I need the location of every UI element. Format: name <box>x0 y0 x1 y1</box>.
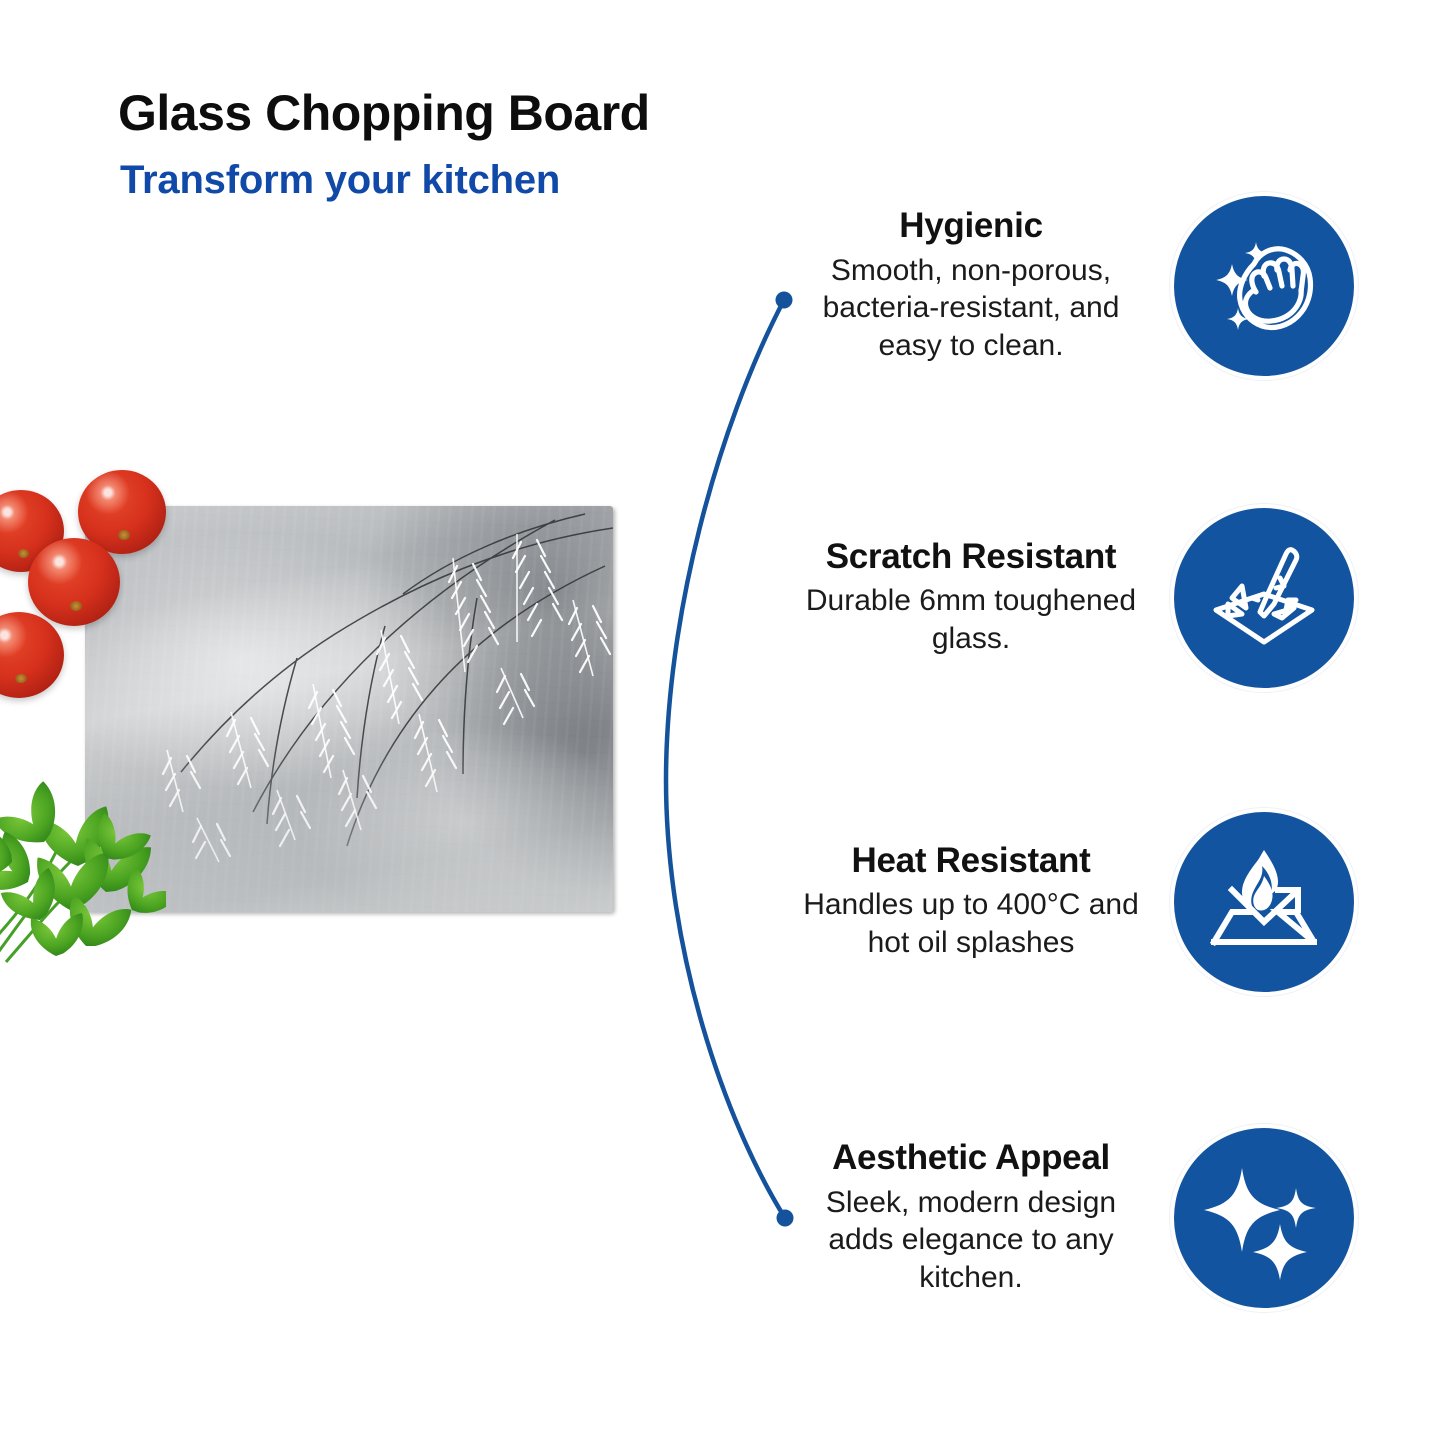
feature-description: Durable 6mm toughened glass. <box>790 582 1152 658</box>
feature-title: Scratch Resistant <box>790 538 1152 577</box>
feature-hygienic: Hygienic Smooth, non-porous, bacteria-re… <box>790 196 1354 376</box>
feature-text-block: Aesthetic Appeal Sleek, modern design ad… <box>790 1139 1152 1297</box>
page-title: Glass Chopping Board <box>118 84 650 142</box>
feature-text-block: Heat Resistant Handles up to 400°C and h… <box>790 842 1152 962</box>
knife-impact-surface-icon <box>1174 508 1354 688</box>
feature-title: Heat Resistant <box>790 842 1152 881</box>
tomato-garnish <box>28 538 120 626</box>
connector-curve <box>620 260 840 1270</box>
parsley-garnish <box>0 770 166 966</box>
tomato-garnish <box>0 612 64 698</box>
hand-wiping-cloth-sparkle-icon <box>1174 196 1354 376</box>
feature-aesthetic-appeal: Aesthetic Appeal Sleek, modern design ad… <box>790 1128 1354 1308</box>
feature-description: Handles up to 400°C and hot oil splashes <box>790 886 1152 962</box>
feature-text-block: Hygienic Smooth, non-porous, bacteria-re… <box>790 207 1152 365</box>
feature-title: Aesthetic Appeal <box>790 1139 1152 1178</box>
product-photo-group <box>0 440 650 970</box>
feature-title: Hygienic <box>790 207 1152 246</box>
page-subtitle: Transform your kitchen <box>120 158 560 203</box>
feature-scratch-resistant: Scratch Resistant Durable 6mm toughened … <box>790 508 1354 688</box>
three-sparkles-icon <box>1174 1128 1354 1308</box>
flame-deflect-arrow-icon <box>1174 812 1354 992</box>
feature-text-block: Scratch Resistant Durable 6mm toughened … <box>790 538 1152 658</box>
infographic-canvas: Glass Chopping Board Transform your kitc… <box>0 0 1445 1445</box>
feature-description: Sleek, modern design adds elegance to an… <box>790 1184 1152 1297</box>
feature-description: Smooth, non-porous, bacteria-resistant, … <box>790 252 1152 365</box>
feature-heat-resistant: Heat Resistant Handles up to 400°C and h… <box>790 812 1354 992</box>
